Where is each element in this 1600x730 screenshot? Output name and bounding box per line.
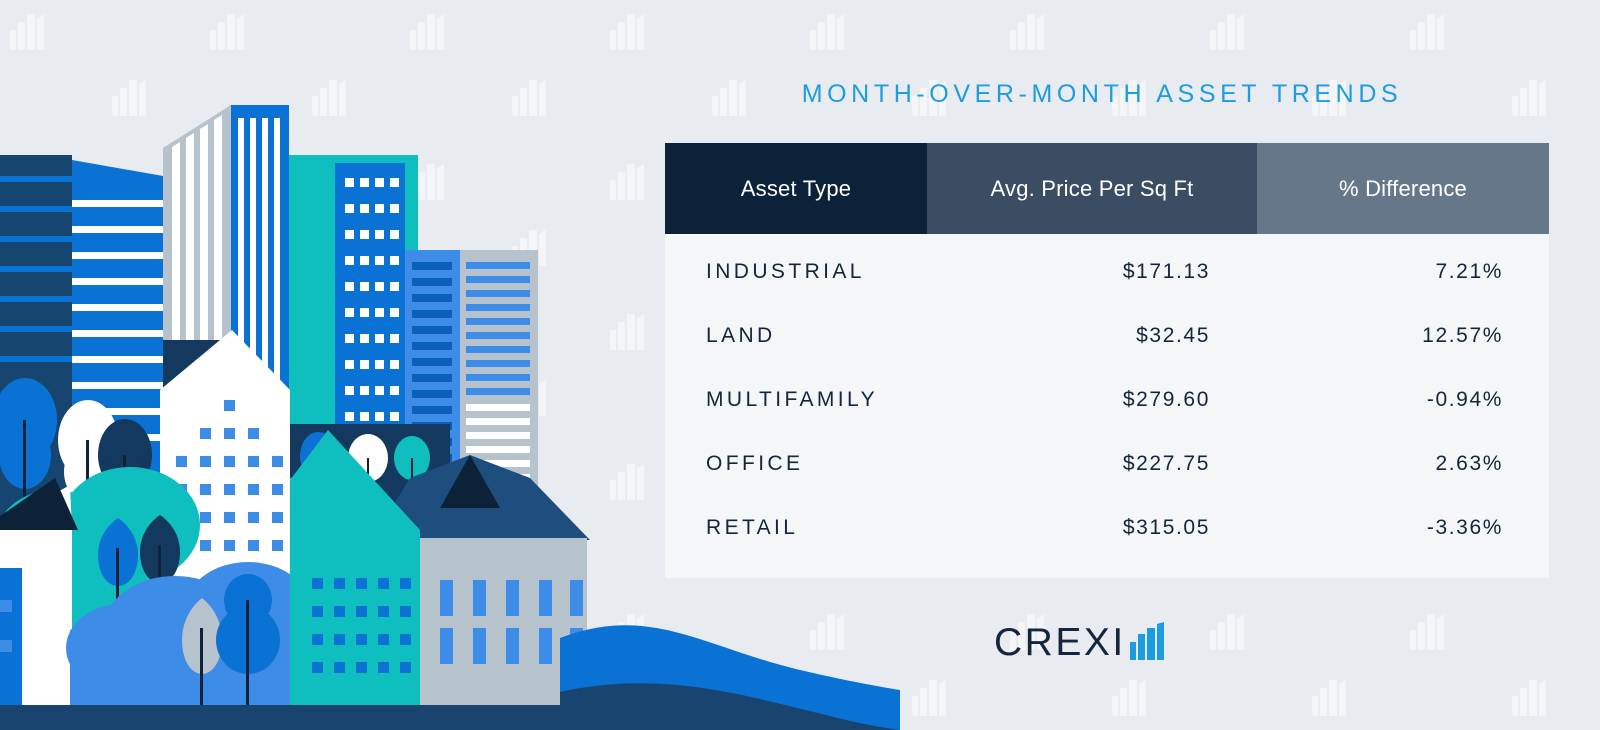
cell-asset-type: MULTIFAMILY xyxy=(665,388,927,412)
table-header-row: Asset Type Avg. Price Per Sq Ft % Differ… xyxy=(665,143,1549,234)
table-row: RETAIL $315.05 -3.36% xyxy=(665,496,1549,560)
asset-trends-table: Asset Type Avg. Price Per Sq Ft % Differ… xyxy=(665,143,1549,578)
cell-pct-difference: -0.94% xyxy=(1257,388,1549,412)
cell-avg-price: $279.60 xyxy=(927,388,1257,412)
column-header-avg-price: Avg. Price Per Sq Ft xyxy=(927,143,1257,234)
table-row: LAND $32.45 12.57% xyxy=(665,304,1549,368)
column-header-asset-type: Asset Type xyxy=(665,143,927,234)
crexi-logo: CREXI xyxy=(994,622,1164,662)
cell-asset-type: INDUSTRIAL xyxy=(665,260,927,284)
table-row: INDUSTRIAL $171.13 7.21% xyxy=(665,240,1549,304)
building-bars-icon xyxy=(1130,622,1164,660)
small-house xyxy=(0,478,78,710)
cell-avg-price: $32.45 xyxy=(927,324,1257,348)
cell-pct-difference: 12.57% xyxy=(1257,324,1549,348)
cell-avg-price: $227.75 xyxy=(927,452,1257,476)
cell-asset-type: LAND xyxy=(665,324,927,348)
table-row: MULTIFAMILY $279.60 -0.94% xyxy=(665,368,1549,432)
cell-pct-difference: 7.21% xyxy=(1257,260,1549,284)
table-body: INDUSTRIAL $171.13 7.21% LAND $32.45 12.… xyxy=(665,234,1549,578)
cell-asset-type: RETAIL xyxy=(665,516,927,540)
logo-wordmark: CREXI xyxy=(994,623,1126,662)
cell-asset-type: OFFICE xyxy=(665,452,927,476)
page-title: MONTH-OVER-MONTH ASSET TRENDS xyxy=(654,80,1550,109)
cell-avg-price: $171.13 xyxy=(927,260,1257,284)
table-row: OFFICE $227.75 2.63% xyxy=(665,432,1549,496)
column-header-pct-difference: % Difference xyxy=(1257,143,1549,234)
cell-avg-price: $315.05 xyxy=(927,516,1257,540)
cell-pct-difference: -3.36% xyxy=(1257,516,1549,540)
asset-trends-panel: MONTH-OVER-MONTH ASSET TRENDS Asset Type… xyxy=(654,0,1600,730)
cell-pct-difference: 2.63% xyxy=(1257,452,1549,476)
ground-strip xyxy=(0,705,600,730)
